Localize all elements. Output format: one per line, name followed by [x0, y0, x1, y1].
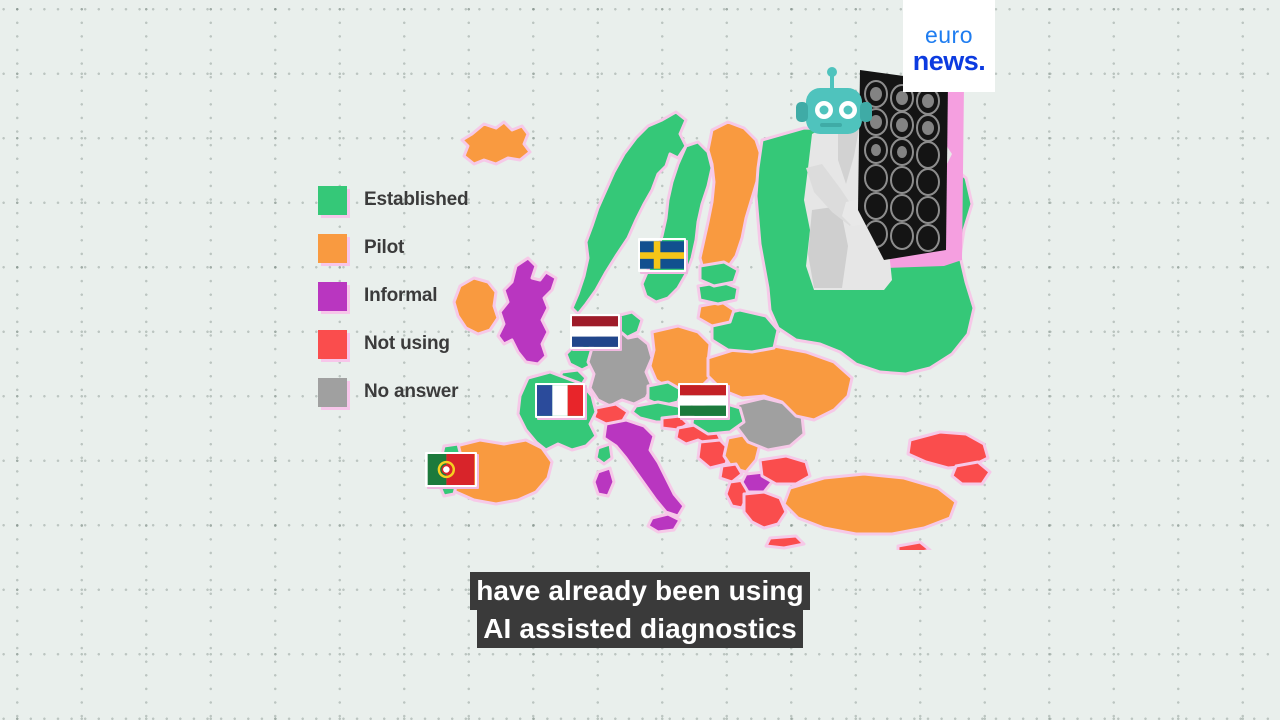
country-italy-sardinia — [594, 468, 614, 496]
legend-label-no-answer: No answer — [364, 381, 458, 403]
legend-swatch-established — [318, 186, 347, 215]
country-cyprus — [898, 542, 930, 550]
legend-swatch-no-answer — [318, 378, 347, 407]
mri-scan-sheet — [858, 70, 948, 260]
euronews-logo[interactable]: euro news. — [903, 0, 995, 92]
flag-portugal[interactable] — [425, 452, 477, 487]
logo-euro-text: euro — [925, 24, 973, 47]
legend-swatch-not-using — [318, 330, 347, 359]
video-frame: Established Pilot Informal Not using No … — [0, 0, 1280, 720]
legend-item-pilot[interactable]: Pilot — [318, 234, 548, 262]
country-greece-crete — [766, 536, 804, 548]
flag-hungary[interactable] — [678, 383, 728, 418]
country-turkey — [784, 474, 956, 534]
country-italy — [604, 420, 684, 516]
caption-line-2: AI assisted diagnostics — [477, 610, 803, 648]
caption-line-1: have already been using — [470, 572, 810, 610]
country-lithuania — [698, 302, 734, 326]
country-italy-sicily — [648, 514, 680, 532]
flag-hungary-icon — [680, 385, 726, 416]
country-estonia — [700, 262, 738, 286]
flag-netherlands[interactable] — [570, 314, 620, 349]
flag-sweden-icon — [640, 240, 684, 270]
flag-netherlands-icon — [572, 316, 618, 347]
country-bulgaria — [760, 456, 810, 484]
legend-swatch-pilot — [318, 234, 347, 263]
map-legend: Established Pilot Informal Not using No … — [318, 186, 548, 426]
flag-sweden[interactable] — [638, 238, 686, 272]
legend-label-not-using: Not using — [364, 333, 450, 355]
legend-label-established: Established — [364, 189, 468, 211]
robot-doctor-svg — [788, 60, 978, 290]
country-finland — [700, 122, 762, 278]
flag-portugal-icon — [427, 454, 475, 485]
logo-news-text: news. — [913, 48, 986, 75]
legend-item-not-using[interactable]: Not using — [318, 330, 548, 358]
legend-item-informal[interactable]: Informal — [318, 282, 548, 310]
robot-doctor-illustration — [788, 60, 978, 290]
legend-label-pilot: Pilot — [364, 237, 404, 259]
country-greece — [744, 492, 786, 528]
legend-item-no-answer[interactable]: No answer — [318, 378, 548, 406]
country-iceland — [462, 122, 530, 164]
legend-item-established[interactable]: Established — [318, 186, 548, 214]
caption-overlay: have already been using AI assisted diag… — [0, 572, 1280, 648]
legend-swatch-informal — [318, 282, 347, 311]
country-corsica — [596, 444, 612, 464]
country-armenia — [952, 462, 990, 484]
legend-label-informal: Informal — [364, 285, 437, 307]
